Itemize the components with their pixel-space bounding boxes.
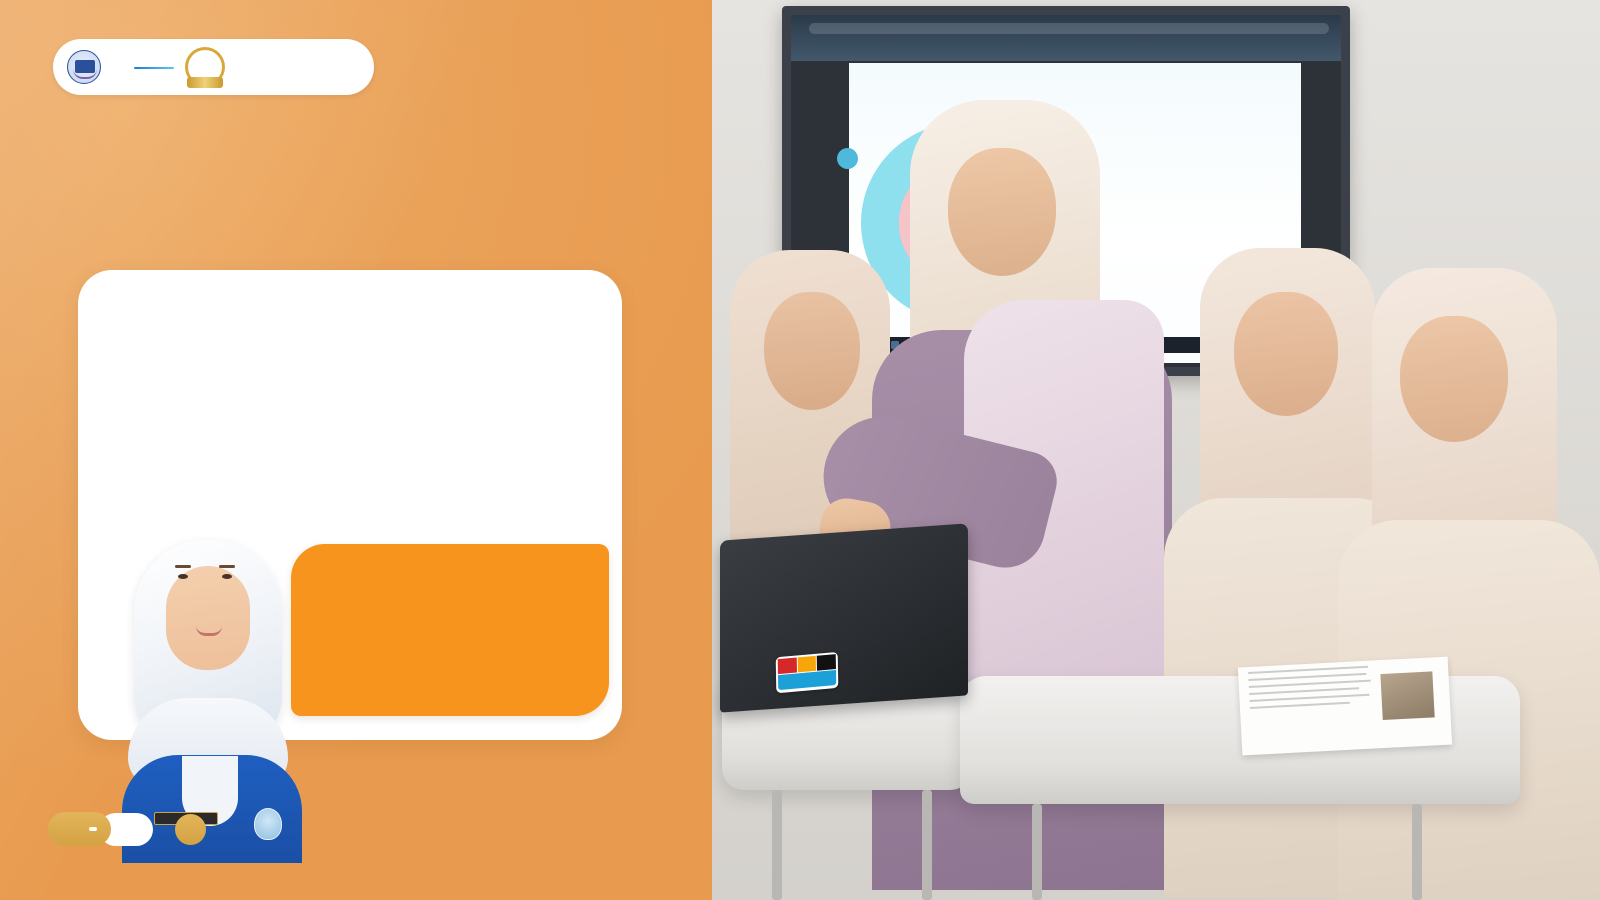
youtube-icon[interactable] xyxy=(89,827,97,831)
browser-chrome xyxy=(791,15,1341,61)
browser-tabstrip xyxy=(791,15,1341,19)
desk-leg-4 xyxy=(922,790,932,900)
sticker-we xyxy=(778,658,797,675)
website-group[interactable] xyxy=(175,814,215,845)
openinfra-sticker xyxy=(776,652,839,693)
badge-ramah xyxy=(134,66,174,69)
classroom-photo xyxy=(712,0,1600,900)
student-4-face xyxy=(1400,316,1508,442)
decorative-blue-dot xyxy=(837,148,858,169)
badge-ramah-underline xyxy=(134,67,174,69)
msi-laptop[interactable] xyxy=(720,523,968,712)
title-line-2 xyxy=(12,109,712,122)
open-book-on-desk xyxy=(1238,657,1452,756)
footer-bar xyxy=(48,812,215,846)
desk-leg-3 xyxy=(772,790,782,900)
left-info-panel xyxy=(0,0,712,900)
sticker-logo-icon xyxy=(817,654,836,671)
social-icons-pill[interactable] xyxy=(48,812,111,846)
desk-leg-1 xyxy=(1032,804,1042,900)
globe-icon xyxy=(175,814,206,845)
student-face xyxy=(166,566,250,670)
notice-box xyxy=(291,544,609,716)
book-line xyxy=(1250,694,1370,702)
desk-leg-2 xyxy=(1412,804,1422,900)
student-3-face xyxy=(1234,292,1338,416)
browser-bookmarks-bar[interactable] xyxy=(791,34,1341,36)
student-brow-left xyxy=(175,565,191,568)
school-logo-bar xyxy=(53,39,374,95)
school-crest-icon xyxy=(67,50,101,84)
student-brow-right xyxy=(219,565,235,568)
sticker-are xyxy=(797,656,816,673)
notice-spacer xyxy=(318,562,587,577)
akreditasi-ribbon xyxy=(187,77,223,88)
book-photo xyxy=(1380,671,1434,720)
student-photo xyxy=(122,530,302,860)
book-line xyxy=(1250,702,1350,709)
student-school-emblem-icon xyxy=(254,808,282,840)
student-eye-left xyxy=(178,574,188,579)
teacher-face xyxy=(948,148,1056,276)
student-1-face xyxy=(764,292,860,410)
badge-akreditasi-a xyxy=(185,47,225,87)
student-eye-right xyxy=(222,574,232,579)
browser-url-bar[interactable] xyxy=(809,23,1329,34)
book-line xyxy=(1249,687,1359,695)
title-line-1 xyxy=(0,120,712,140)
poster-root xyxy=(0,0,1600,900)
